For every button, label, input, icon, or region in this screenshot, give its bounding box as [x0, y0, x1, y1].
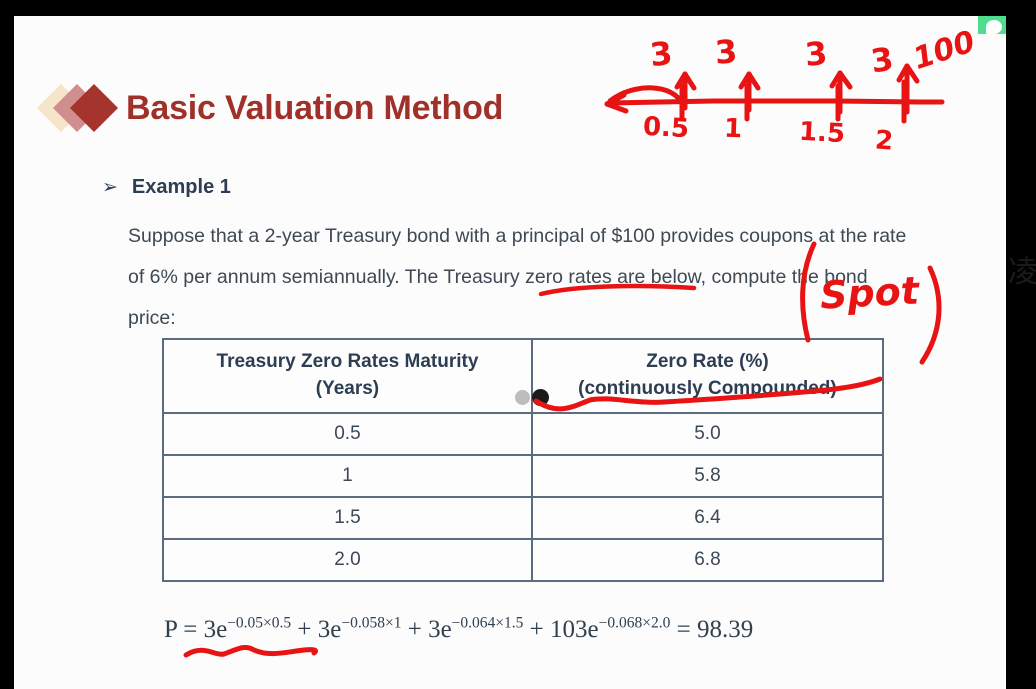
formula-exponent-1: −0.05×0.5 — [227, 615, 291, 632]
arrowhead-bullet-icon: ➢ — [102, 178, 118, 197]
cell-rate: 6.8 — [532, 539, 883, 581]
spot-paren-right — [922, 268, 939, 362]
table-row: 2.0 6.8 — [163, 539, 883, 581]
header-line-2: (continuously Compounded) — [539, 375, 876, 402]
table-row: 1.5 6.4 — [163, 497, 883, 539]
cell-maturity: 1.5 — [163, 497, 532, 539]
table-header-maturity: Treasury Zero Rates Maturity (Years) — [163, 339, 532, 413]
hw-cashflow-0.5: 3 — [648, 37, 673, 71]
timeline-axis-arrow-upper — [607, 95, 624, 104]
cell-maturity: 0.5 — [163, 413, 532, 455]
table-row: 1 5.8 — [163, 455, 883, 497]
hw-axis-label-1.5: 1.5 — [798, 119, 845, 147]
margin-watermark-character: 凌 — [1008, 258, 1036, 288]
cashflow-arrow-2 — [899, 66, 917, 112]
cashflow-arrow-1.5 — [832, 73, 850, 112]
hw-cashflow-1: 3 — [714, 35, 738, 68]
problem-statement-text: Suppose that a 2-year Treasury bond with… — [128, 216, 918, 339]
formula-exponent-2: −0.058×1 — [341, 615, 401, 632]
formula-term-3: + 3e — [401, 616, 451, 643]
cell-rate: 6.4 — [532, 497, 883, 539]
formula-exponent-4: −0.068×2.0 — [599, 615, 671, 632]
header-line-1: Treasury Zero Rates Maturity — [170, 348, 525, 375]
chat-bubble-icon — [986, 20, 1002, 34]
hw-spot-note: Spot — [819, 271, 920, 314]
formula-term-2: + 3e — [291, 616, 341, 643]
example-heading: Example 1 — [132, 176, 231, 199]
timeline-axis-arrow-lower — [607, 104, 626, 111]
bond-price-formula: P = 3e−0.05×0.5 + 3e−0.058×1 + 3e−0.064×… — [164, 616, 753, 644]
video-call-badge[interactable] — [978, 16, 1006, 34]
slide-canvas[interactable]: Basic Valuation Method ➢ Example 1 Suppo… — [14, 16, 1006, 689]
hw-axis-label-1: 1 — [724, 116, 743, 143]
cursor-dot-gray — [515, 390, 530, 405]
table-row: 0.5 5.0 — [163, 413, 883, 455]
cell-rate: 5.0 — [532, 413, 883, 455]
treasury-zero-rates-table: Treasury Zero Rates Maturity (Years) Zer… — [162, 338, 884, 582]
discount-arc — [610, 88, 682, 104]
cell-rate: 5.8 — [532, 455, 883, 497]
formula-tail: = 98.39 — [670, 616, 753, 643]
cashflow-arrow-0.5 — [677, 74, 694, 108]
screen-root: 凌 Basic Valuation Method ➢ Example 1 Sup… — [0, 0, 1036, 689]
header-line-1: Zero Rate (%) — [539, 348, 876, 375]
hw-cashflow-1.5: 3 — [804, 37, 829, 71]
formula-term-4: + 103e — [523, 616, 598, 643]
underline-first-formula-term — [186, 647, 316, 655]
timeline-axis — [607, 101, 942, 104]
cell-maturity: 1 — [163, 455, 532, 497]
formula-lead: P = 3e — [164, 616, 227, 643]
diamond-logo — [44, 81, 124, 135]
example-bullet-row: ➢ Example 1 — [102, 176, 231, 199]
page-title: Basic Valuation Method — [126, 89, 503, 128]
cell-maturity: 2.0 — [163, 539, 532, 581]
pen-cursor-dot — [532, 389, 549, 406]
hw-axis-label-0.5: 0.5 — [642, 114, 689, 142]
hw-principal-100: 100 — [910, 27, 979, 75]
slide-title-row: Basic Valuation Method — [44, 78, 503, 138]
hw-axis-label-2: 2 — [874, 127, 894, 154]
table-header-zero-rate: Zero Rate (%) (continuously Compounded) — [532, 339, 883, 413]
hw-cashflow-2: 3 — [869, 43, 896, 78]
header-line-2: (Years) — [170, 375, 525, 402]
cashflow-arrow-1 — [741, 74, 758, 110]
formula-exponent-3: −0.064×1.5 — [452, 615, 524, 632]
